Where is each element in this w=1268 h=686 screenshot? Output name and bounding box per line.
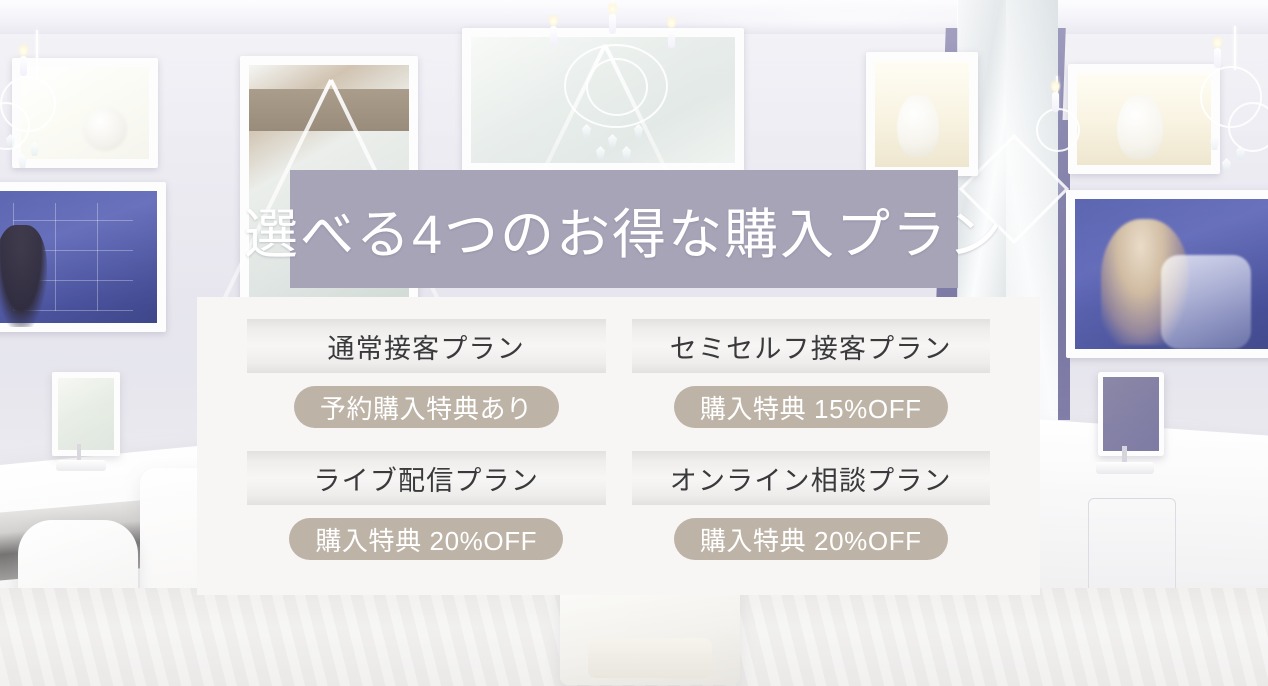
plan-card-1[interactable]: 通常接客プラン 予約購入特典あり bbox=[247, 319, 606, 439]
plan-badge-1: 予約購入特典あり bbox=[294, 386, 559, 428]
page-title: 選べる4つのお得な購入プラン bbox=[244, 190, 1004, 269]
plan-card-4[interactable]: オンライン相談プラン 購入特典 20%OFF bbox=[632, 451, 991, 571]
plans-panel: 通常接客プラン 予約購入特典あり セミセルフ接客プラン 購入特典 15%OFF … bbox=[197, 297, 1040, 595]
plan-title-4: オンライン相談プラン bbox=[670, 459, 952, 498]
hero-title-band: 選べる4つのお得な購入プラン bbox=[290, 170, 958, 288]
plan-card-2[interactable]: セミセルフ接客プラン 購入特典 15%OFF bbox=[632, 319, 991, 439]
plan-header-1: 通常接客プラン bbox=[247, 319, 606, 373]
plan-header-4: オンライン相談プラン bbox=[632, 451, 991, 505]
plan-badge-3: 購入特典 20%OFF bbox=[289, 518, 563, 560]
promo-banner: 選べる4つのお得な購入プラン 通常接客プラン 予約購入特典あり セミセルフ接客プ… bbox=[0, 0, 1268, 686]
plan-header-2: セミセルフ接客プラン bbox=[632, 319, 991, 373]
plan-title-3: ライブ配信プラン bbox=[313, 459, 539, 498]
plan-title-2: セミセルフ接客プラン bbox=[670, 327, 952, 366]
plan-badge-4: 購入特典 20%OFF bbox=[674, 518, 948, 560]
plan-title-1: 通常接客プラン bbox=[328, 327, 525, 366]
plan-badge-2: 購入特典 15%OFF bbox=[674, 386, 948, 428]
plan-card-3[interactable]: ライブ配信プラン 購入特典 20%OFF bbox=[247, 451, 606, 571]
plans-grid: 通常接客プラン 予約購入特典あり セミセルフ接客プラン 購入特典 15%OFF … bbox=[197, 297, 1040, 595]
plan-header-3: ライブ配信プラン bbox=[247, 451, 606, 505]
